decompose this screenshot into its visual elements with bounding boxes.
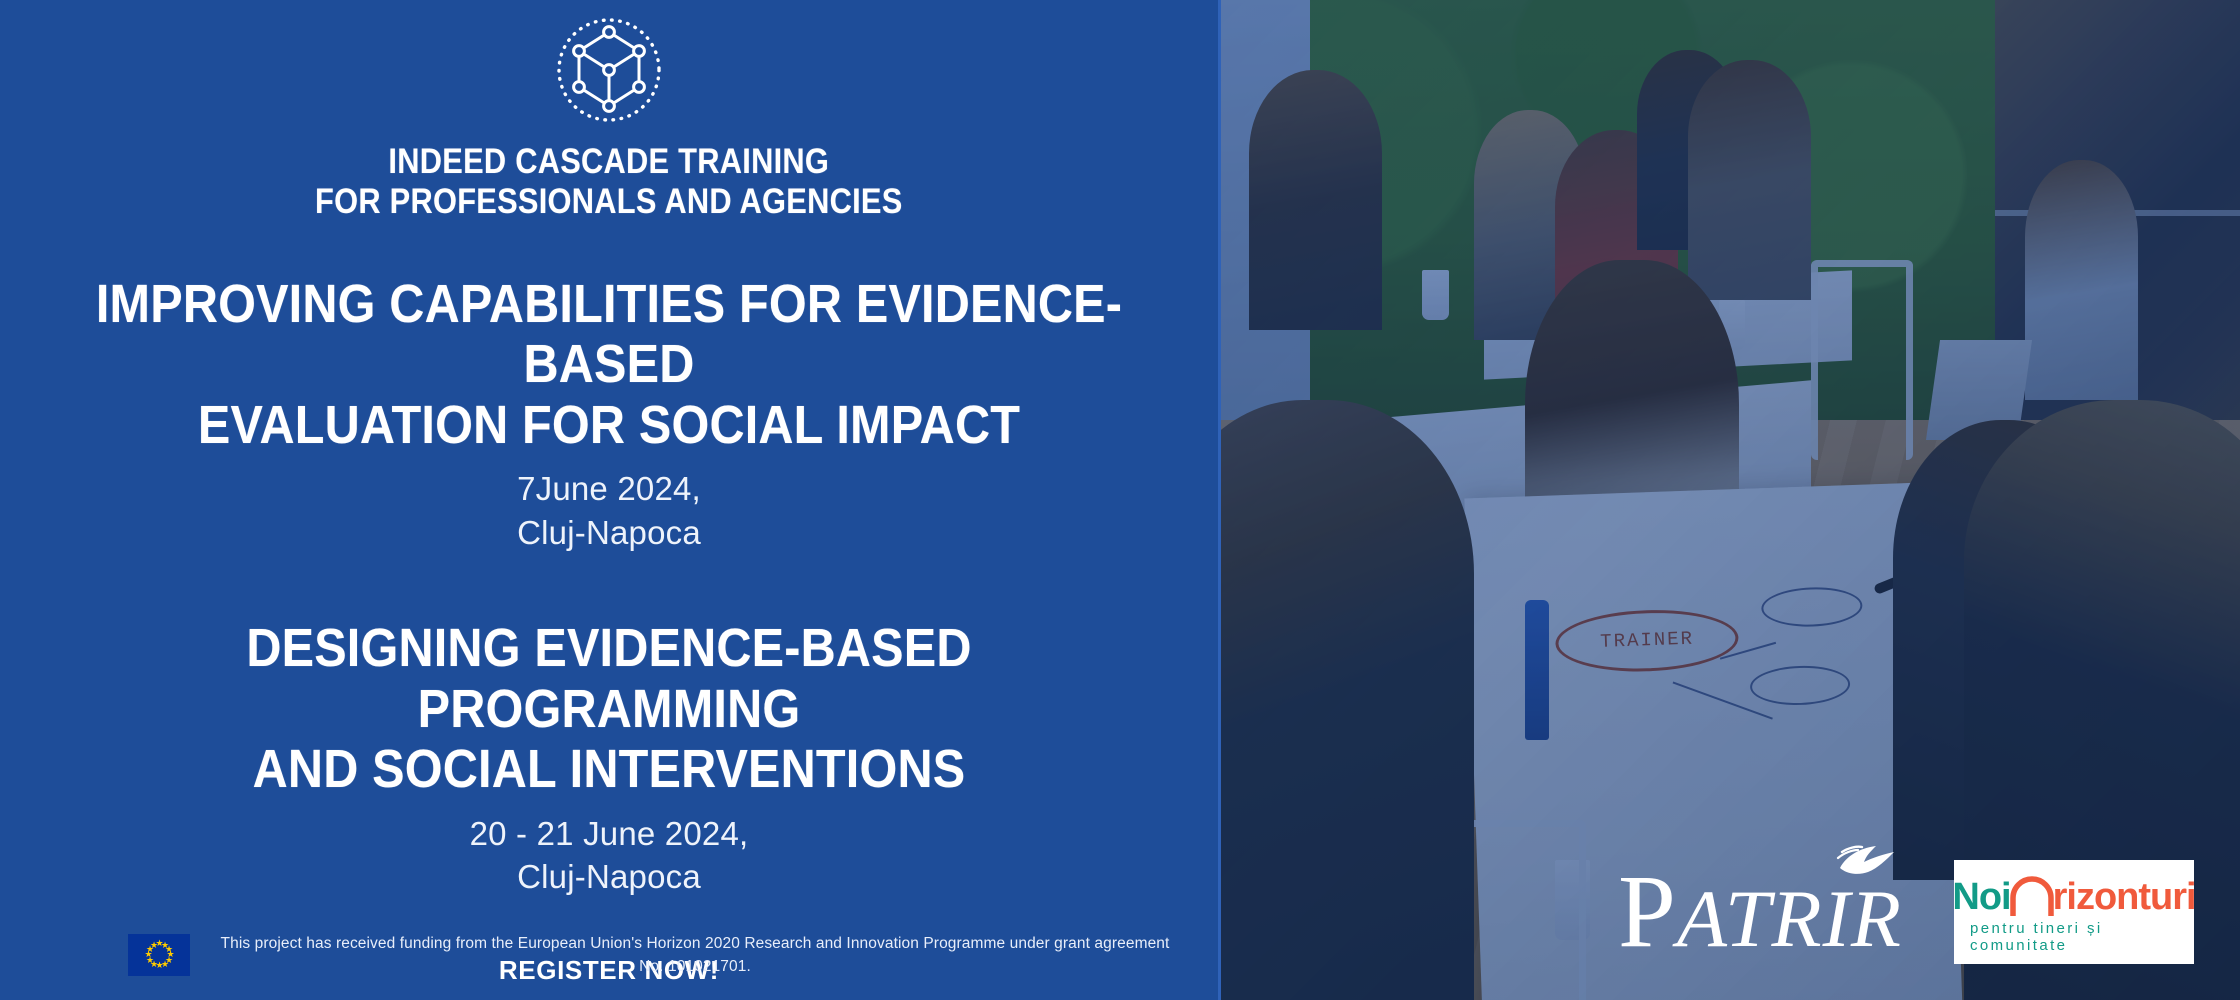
event-1-date: 7June 2024, <box>517 470 701 507</box>
eyebrow-line-2: FOR PROFESSIONALS AND AGENCIES <box>315 182 902 222</box>
partner-logos: PATRIR Noi rizonturi pentru tineri și co… <box>1618 860 2194 964</box>
funding-line-1: This project has received funding from t… <box>221 935 1170 952</box>
panel-divider <box>1218 0 1221 1000</box>
program-eyebrow: INDEED CASCADE TRAINING FOR PROFESSIONAL… <box>315 142 902 222</box>
event-1-title: IMPROVING CAPABILITIES FOR EVIDENCE-BASE… <box>61 274 1157 455</box>
event-2-title-line-1: DESIGNING EVIDENCE-BASED PROGRAMMING <box>246 618 971 738</box>
event-1-meta: 7June 2024, Cluj-Napoca <box>0 467 1218 554</box>
arch-icon <box>2009 874 2055 916</box>
workshop-photo: TRAINER <box>1218 0 2240 1000</box>
event-block-1: IMPROVING CAPABILITIES FOR EVIDENCE-BASE… <box>0 274 1218 555</box>
event-1-location: Cluj-Napoca <box>0 511 1218 555</box>
event-1-title-line-2: EVALUATION FOR SOCIAL IMPACT <box>61 395 1157 455</box>
event-block-2: DESIGNING EVIDENCE-BASED PROGRAMMING AND… <box>0 618 1218 899</box>
funding-statement: This project has received funding from t… <box>208 932 1182 979</box>
dove-icon <box>1834 838 1898 882</box>
eu-flag-icon: ★★★★★★★★★★★★ <box>128 934 190 976</box>
event-2-title-line-2: AND SOCIAL INTERVENTIONS <box>61 739 1157 799</box>
noi-orizonturi-logo[interactable]: Noi rizonturi pentru tineri și comunitat… <box>1954 860 2194 964</box>
eyebrow-line-1: INDEED CASCADE TRAINING <box>389 142 830 181</box>
orizonturi-text: rizonturi <box>2053 878 2196 916</box>
eu-star: ★ <box>150 942 157 949</box>
noi-orizonturi-wordmark: Noi rizonturi <box>1952 872 2195 916</box>
patrir-initial: P <box>1618 854 1677 969</box>
photo-blue-overlay-2 <box>1218 0 2240 1000</box>
poster-root: INDEED CASCADE TRAINING FOR PROFESSIONAL… <box>0 0 2240 1000</box>
noi-text: Noi <box>1952 878 2010 916</box>
cube-network-logo-icon <box>553 14 665 126</box>
eu-funding-footer: ★★★★★★★★★★★★ This project has received f… <box>0 932 1218 979</box>
patrir-rest: ATRIR <box>1677 873 1902 964</box>
event-2-location: Cluj-Napoca <box>0 855 1218 899</box>
patrir-logo[interactable]: PATRIR <box>1618 864 1902 960</box>
event-2-title: DESIGNING EVIDENCE-BASED PROGRAMMING AND… <box>61 618 1157 799</box>
event-2-meta: 20 - 21 June 2024, Cluj-Napoca <box>0 812 1218 899</box>
noi-tagline: pentru tineri și comunitate <box>1970 920 2178 954</box>
funding-line-2: No. 101021701. <box>208 955 1182 978</box>
event-1-title-line-1: IMPROVING CAPABILITIES FOR EVIDENCE-BASE… <box>96 274 1122 394</box>
left-info-panel: INDEED CASCADE TRAINING FOR PROFESSIONAL… <box>0 0 1218 1000</box>
event-2-date: 20 - 21 June 2024, <box>470 815 749 852</box>
